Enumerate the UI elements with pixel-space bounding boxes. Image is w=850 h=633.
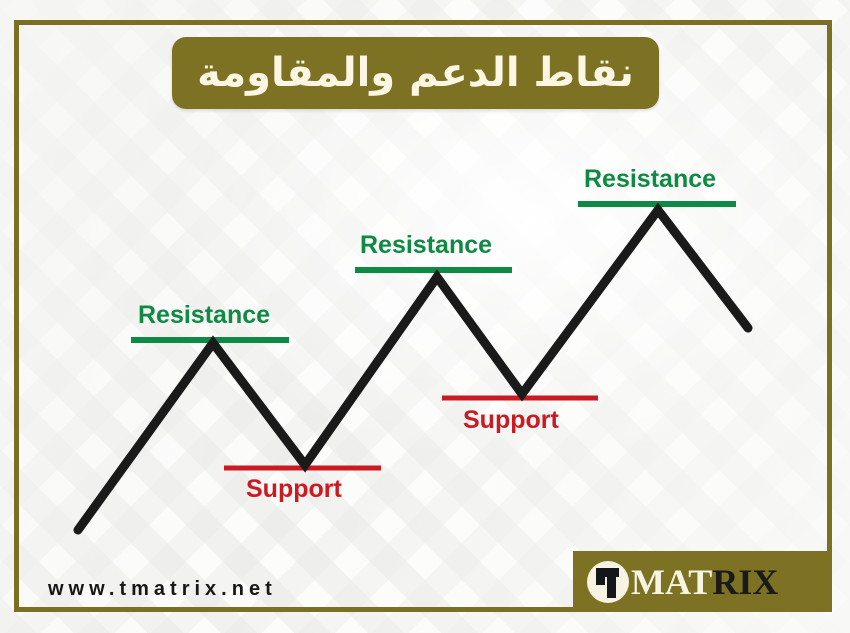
site-url-text: www.tmatrix.net <box>48 578 277 601</box>
resistance-label: Resistance <box>138 303 270 328</box>
brand-logo-text-dark: RIX <box>712 562 778 602</box>
support-resistance-chart <box>0 0 850 633</box>
resistance-label: Resistance <box>360 233 492 258</box>
t-icon-stem <box>607 568 616 598</box>
resistance-label: Resistance <box>584 167 716 192</box>
brand-logo-bar: MATRIX <box>573 551 832 612</box>
t-icon-foot <box>596 568 605 585</box>
brand-logo-text-light: MAT <box>631 562 712 602</box>
poster-root: نقاط الدعم والمقاومة ResistanceResistanc… <box>0 0 850 633</box>
support-label: Support <box>463 408 559 433</box>
support-label: Support <box>246 477 342 502</box>
t-circle-icon <box>587 561 629 603</box>
brand-logo-text: MATRIX <box>631 564 778 600</box>
